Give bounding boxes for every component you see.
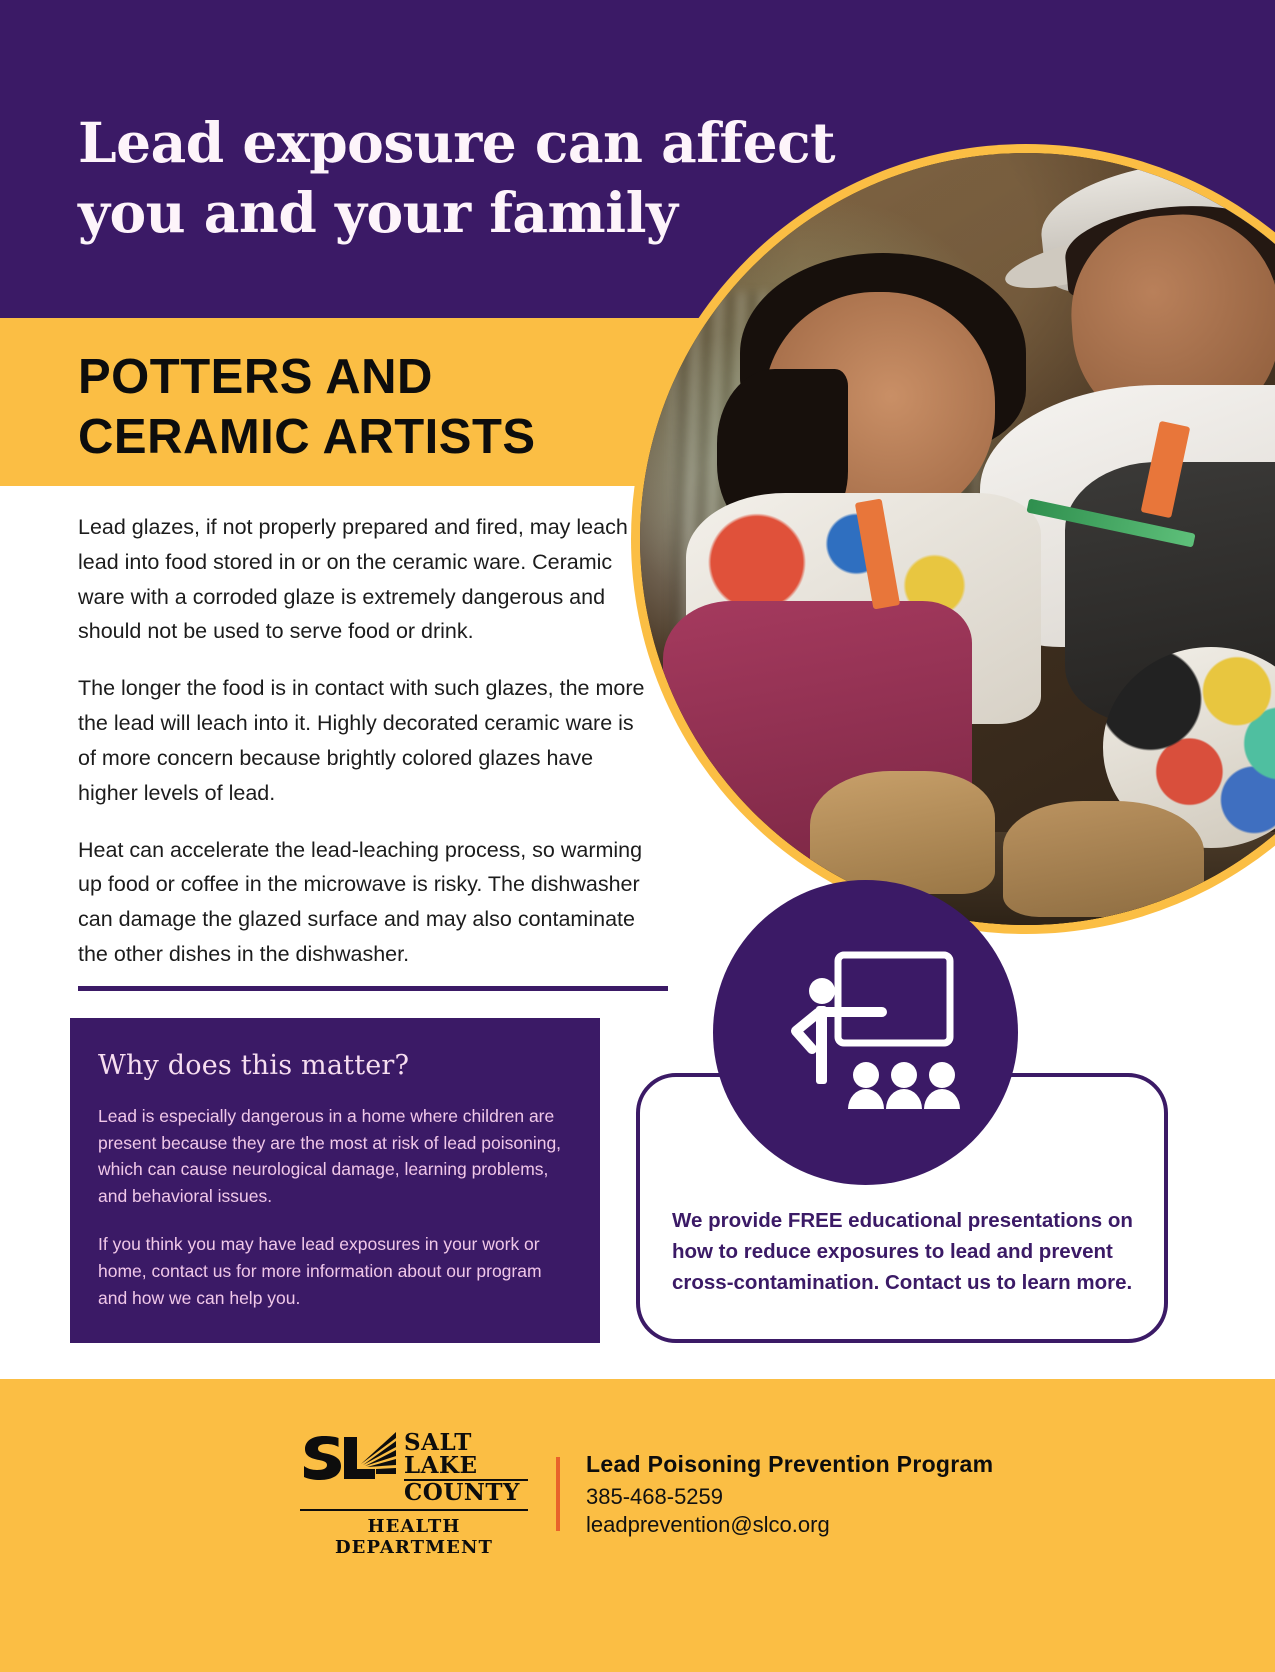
body-copy: Lead glazes, if not properly prepared an… bbox=[78, 510, 648, 972]
why-does-this-matter-box: Why does this matter? Lead is especially… bbox=[70, 1018, 600, 1343]
subtitle-line2: CERAMIC ARTISTS bbox=[78, 408, 698, 468]
sl-monogram-icon bbox=[300, 1430, 398, 1482]
program-name: Lead Poisoning Prevention Program bbox=[586, 1451, 993, 1478]
why-box-paragraph-2: If you think you may have lead exposures… bbox=[98, 1231, 570, 1311]
footer-contact: Lead Poisoning Prevention Program 385-46… bbox=[586, 1449, 993, 1539]
salt-lake-county-logo: SALT LAKE COUNTY HEALTH DEPARTMENT bbox=[300, 1430, 528, 1558]
page-title-line1: Lead exposure can affect bbox=[78, 110, 835, 175]
logo-department: HEALTH DEPARTMENT bbox=[300, 1509, 528, 1558]
why-box-title: Why does this matter? bbox=[98, 1050, 570, 1081]
hero-photo-circle bbox=[631, 144, 1275, 934]
presentation-icon bbox=[766, 933, 966, 1133]
page-title: Lead exposure can affect you and your fa… bbox=[78, 108, 868, 249]
page-title-line2: you and your family bbox=[78, 178, 868, 248]
promo-text: We provide FREE educational presentation… bbox=[672, 1205, 1142, 1298]
body-paragraph-2: The longer the food is in contact with s… bbox=[78, 671, 648, 810]
section-divider bbox=[78, 986, 668, 991]
footer-content: SALT LAKE COUNTY HEALTH DEPARTMENT Lead … bbox=[300, 1430, 1000, 1558]
subtitle-line1: POTTERS AND bbox=[78, 350, 433, 404]
email-address[interactable]: leadprevention@slco.org bbox=[586, 1511, 993, 1539]
logo-name-line2: COUNTY bbox=[404, 1481, 528, 1504]
hero-photo bbox=[640, 153, 1275, 925]
presentation-icon-circle bbox=[713, 880, 1018, 1185]
phone-number[interactable]: 385-468-5259 bbox=[586, 1483, 993, 1511]
body-paragraph-1: Lead glazes, if not properly prepared an… bbox=[78, 510, 648, 649]
body-paragraph-3: Heat can accelerate the lead-leaching pr… bbox=[78, 833, 648, 972]
logo-name-line1: SALT LAKE bbox=[404, 1431, 528, 1481]
why-box-paragraph-1: Lead is especially dangerous in a home w… bbox=[98, 1103, 570, 1209]
subtitle: POTTERS AND CERAMIC ARTISTS bbox=[78, 348, 698, 468]
footer-divider bbox=[556, 1457, 560, 1531]
